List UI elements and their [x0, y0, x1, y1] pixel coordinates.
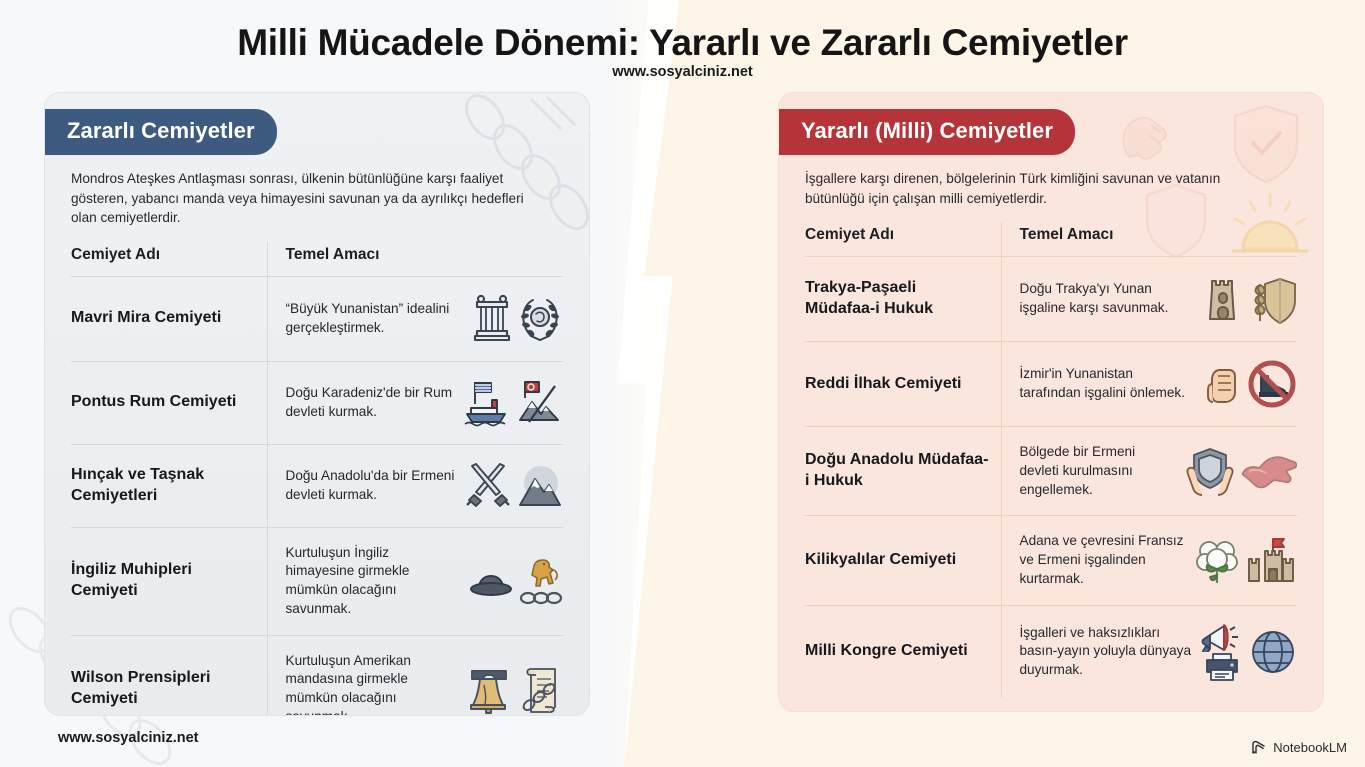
useful-panel-badge: Yararlı (Milli) Cemiyetler: [779, 109, 1075, 155]
liberty-bell-icon: [466, 663, 512, 715]
column-header-purpose: Temel Amacı: [267, 242, 563, 277]
greek-column-icon: [472, 293, 512, 345]
anatolia-map-icon: [1239, 449, 1297, 493]
cotton-boll-icon: [1194, 535, 1240, 587]
no-boot-prohibition-icon: [1247, 358, 1297, 410]
row-icons: [472, 293, 563, 345]
column-header-purpose: Temel Amacı: [1001, 222, 1297, 257]
notebooklm-logo-icon: [1250, 739, 1267, 756]
row-icons: [1200, 622, 1297, 682]
row-icons: [466, 663, 563, 715]
society-purpose: “Büyük Yunanistan” idealini gerçekleştir…: [286, 300, 465, 338]
society-purpose: İşgalleri ve haksızlıkları basın-yayın y…: [1020, 624, 1193, 680]
society-name: Wilson Prensipleri Cemiyeti: [71, 635, 267, 716]
wheat-shield-icon: [1249, 273, 1297, 325]
society-purpose: Doğu Anadolu'da bir Ermeni devleti kurma…: [286, 467, 457, 505]
table-row: Doğu Anadolu Müdafaa-i Hukuk Bölgede bir…: [805, 427, 1297, 516]
harmful-panel-description: Mondros Ateşkes Antlaşması sonrası, ülke…: [71, 169, 541, 228]
ship-greek-flag-icon: [462, 378, 510, 428]
row-icons: [1202, 358, 1297, 410]
society-name: Kilikyalılar Cemiyeti: [805, 516, 1001, 605]
table-row: İngiliz Muhipleri Cemiyeti Kurtuluşun İn…: [71, 527, 563, 635]
table-header-row: Cemiyet Adı Temel Amacı: [805, 222, 1297, 257]
useful-panel-description: İşgallere karşı direnen, bölgelerinin Tü…: [805, 169, 1260, 208]
table-row: Pontus Rum Cemiyeti Doğu Karadeniz'de bi…: [71, 361, 563, 444]
society-name: Reddi İlhak Cemiyeti: [805, 342, 1001, 427]
laurel-wreath-icon: [517, 294, 563, 344]
row-icons: [1186, 445, 1297, 497]
society-purpose: Doğu Karadeniz'de bir Rum devleti kurmak…: [286, 384, 455, 422]
column-header-name: Cemiyet Adı: [71, 242, 267, 277]
society-purpose: Kurtuluşun Amerikan mandasına girmekle m…: [286, 652, 459, 716]
society-purpose: Doğu Trakya'yı Yunan işgaline karşı savu…: [1020, 280, 1197, 318]
society-purpose-cell: İşgalleri ve haksızlıkları basın-yayın y…: [1001, 605, 1297, 698]
society-name: Pontus Rum Cemiyeti: [71, 361, 267, 444]
chain-icon: [519, 590, 563, 606]
crossed-swords-icon: [464, 461, 512, 511]
society-purpose-cell: Kurtuluşun İngiliz himayesine girmekle m…: [267, 527, 563, 635]
table-row: Trakya-Paşaeli Müdafaa-i Hukuk Doğu Trak…: [805, 257, 1297, 342]
society-purpose-cell: Doğu Karadeniz'de bir Rum devleti kurmak…: [267, 361, 563, 444]
table-row: Hınçak ve Taşnak Cemiyetleri Doğu Anadol…: [71, 444, 563, 527]
mountains-turkish-flag-crossed-icon: [515, 378, 563, 428]
society-purpose-cell: Doğu Anadolu'da bir Ermeni devleti kurma…: [267, 444, 563, 527]
table-row: Mavri Mira Cemiyeti “Büyük Yunanistan” i…: [71, 276, 563, 361]
row-icons: [464, 461, 563, 511]
society-name: Mavri Mira Cemiyeti: [71, 276, 267, 361]
useful-societies-panel: Yararlı (Milli) Cemiyetler İşgallere kar…: [778, 92, 1324, 712]
row-icons: [1204, 273, 1297, 325]
printer-icon: [1202, 652, 1242, 682]
society-name: Hınçak ve Taşnak Cemiyetleri: [71, 444, 267, 527]
table-row: Kilikyalılar Cemiyeti Adana ve çevresini…: [805, 516, 1297, 605]
snowy-mountain-icon: [517, 461, 563, 511]
page-subtitle: www.sosyalciniz.net: [0, 64, 1365, 80]
row-icons: [468, 557, 563, 606]
notebooklm-watermark: NotebookLM: [1250, 739, 1347, 756]
table-row: Milli Kongre Cemiyeti İşgalleri ve haksı…: [805, 605, 1297, 698]
society-purpose: Bölgede bir Ermeni devleti kurulmasını e…: [1020, 443, 1179, 499]
society-purpose-cell: Bölgede bir Ermeni devleti kurulmasını e…: [1001, 427, 1297, 516]
society-name: Milli Kongre Cemiyeti: [805, 605, 1001, 698]
society-purpose-cell: Doğu Trakya'yı Yunan işgaline karşı savu…: [1001, 257, 1297, 342]
raised-fist-icon: [1202, 358, 1242, 410]
society-purpose-cell: Adana ve çevresini Fransız ve Ermeni işg…: [1001, 516, 1297, 605]
society-name: Trakya-Paşaeli Müdafaa-i Hukuk: [805, 257, 1001, 342]
society-purpose-cell: “Büyük Yunanistan” idealini gerçekleştir…: [267, 276, 563, 361]
society-purpose: İzmir'in Yunanistan tarafından işgalini …: [1020, 365, 1195, 403]
tower-icon: [1204, 273, 1244, 325]
castle-flag-icon: [1245, 535, 1297, 587]
society-purpose-cell: İzmir'in Yunanistan tarafından işgalini …: [1001, 342, 1297, 427]
hands-shield-icon: [1186, 445, 1234, 497]
harmful-panel-badge: Zararlı Cemiyetler: [45, 109, 277, 155]
row-icons: [1194, 535, 1297, 587]
scroll-chain-icon: [517, 663, 563, 715]
society-purpose: Kurtuluşun İngiliz himayesine girmekle m…: [286, 544, 461, 619]
useful-societies-table: Cemiyet Adı Temel Amacı Trakya-Paşaeli M…: [805, 222, 1297, 698]
column-header-name: Cemiyet Adı: [805, 222, 1001, 257]
harmful-societies-panel: Zararlı Cemiyetler Mondros Ateşkes Antla…: [44, 92, 590, 716]
page-title: Milli Mücadele Dönemi: Yararlı ve Zararl…: [0, 22, 1365, 64]
society-purpose-cell: Kurtuluşun Amerikan mandasına girmekle m…: [267, 635, 563, 716]
society-name: Doğu Anadolu Müdafaa-i Hukuk: [805, 427, 1001, 516]
megaphone-icon: [1200, 622, 1244, 652]
society-name: İngiliz Muhipleri Cemiyeti: [71, 527, 267, 635]
table-row: Wilson Prensipleri Cemiyeti Kurtuluşun A…: [71, 635, 563, 716]
harmful-societies-table: Cemiyet Adı Temel Amacı Mavri Mira Cemiy…: [71, 242, 563, 716]
society-purpose: Adana ve çevresini Fransız ve Ermeni işg…: [1020, 532, 1187, 588]
footer-url: www.sosyalciniz.net: [58, 730, 198, 746]
table-row: Reddi İlhak Cemiyeti İzmir'in Yunanistan…: [805, 342, 1297, 427]
table-header-row: Cemiyet Adı Temel Amacı: [71, 242, 563, 277]
row-icons: [462, 378, 563, 428]
heraldic-lion-icon: [521, 557, 561, 589]
notebooklm-label: NotebookLM: [1273, 740, 1347, 755]
bowler-hat-icon: [468, 560, 514, 602]
globe-icon: [1249, 627, 1297, 677]
